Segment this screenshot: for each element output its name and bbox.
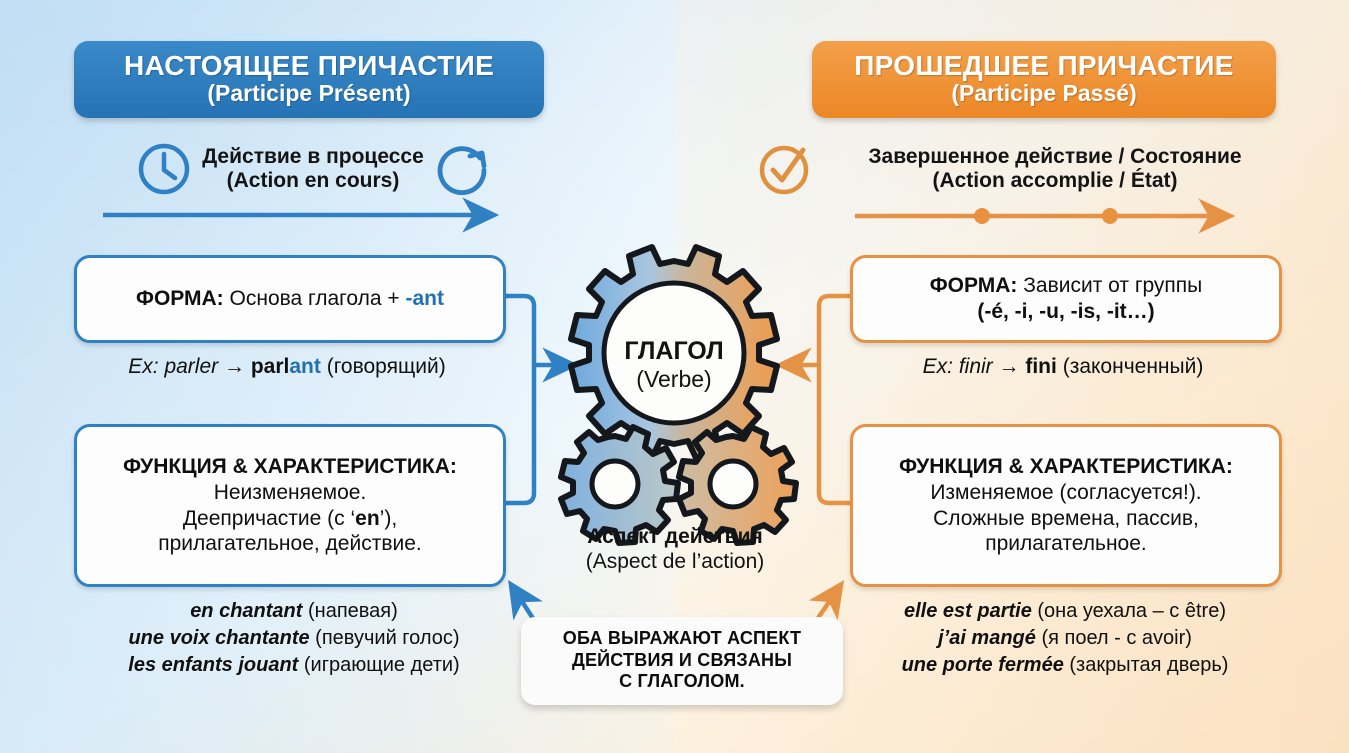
left-function-card: ФУНКЦИЯ & ХАРАКТЕРИСТИКА: Неизменяемое. … <box>74 424 506 587</box>
list-item: les enfants jouant (играющие дети) <box>74 652 514 679</box>
right-examples-list: elle est partie (она уехала – с être) j’… <box>840 598 1290 678</box>
left-subtitle-fr: (Action en cours) <box>202 169 424 193</box>
gear-label-ru: ГЛАГОЛ <box>604 337 744 366</box>
right-form-label: ФОРМА: <box>930 274 1018 297</box>
left-subtitle-ru: Действие в процессе <box>202 145 424 169</box>
right-header-title-ru: ПРОШЕДШЕЕ ПРИЧАСТИЕ <box>812 50 1276 81</box>
right-form-line1: ФОРМА: Зависит от группы <box>930 273 1203 299</box>
left-function-line2-a: Деепричастие (с ‘ <box>183 507 355 530</box>
right-connector-bracket <box>782 296 850 503</box>
right-example-verb: finir <box>959 355 993 378</box>
right-function-card: ФУНКЦИЯ & ХАРАКТЕРИСТИКА: Изменяемое (со… <box>850 424 1282 587</box>
left-function-line1: Неизменяемое. <box>123 480 457 506</box>
left-form-text: Основа глагола + <box>224 287 406 310</box>
right-example-arrow: → <box>999 355 1020 378</box>
right-subtitle-fr: (Action accomplie / État) <box>824 169 1286 193</box>
left-form-label: ФОРМА: <box>136 287 224 310</box>
gear-caption-fr: (Aspect de l’action) <box>528 549 822 574</box>
left-form-accent: -ant <box>405 287 444 310</box>
left-function-title: ФУНКЦИЯ & ХАРАКТЕРИСТИКА: <box>123 454 457 480</box>
right-form-card: ФОРМА: Зависит от группы (-é, -i, -u, -i… <box>850 255 1282 343</box>
right-function-title: ФУНКЦИЯ & ХАРАКТЕРИСТИКА: <box>899 454 1233 480</box>
left-example-result-ending: ant <box>289 355 321 378</box>
left-header-title-ru: НАСТОЯЩЕЕ ПРИЧАСТИЕ <box>74 50 544 81</box>
clock-icon <box>136 141 192 197</box>
right-subtitle-row: Завершенное действие / Состояние (Action… <box>756 140 1286 198</box>
check-circle-icon <box>756 140 814 198</box>
gear-caption: Аспект действия (Aspect de l’action) <box>528 524 822 574</box>
left-function-line3: прилагательное, действие. <box>123 531 457 557</box>
right-function-line3: прилагательное. <box>899 531 1233 557</box>
list-item: en chantant (напевая) <box>74 598 514 625</box>
left-example-result: parlant <box>251 355 321 378</box>
right-subtitle-text: Завершенное действие / Состояние (Action… <box>824 145 1286 193</box>
left-form-card: ФОРМА: Основа глагола + -ant <box>74 255 506 343</box>
left-function-line2-accent: en <box>355 507 380 530</box>
left-example-verb: parler <box>164 355 218 378</box>
left-example-prefix: Ex: <box>128 355 164 378</box>
left-function-line2-c: ’), <box>380 507 398 530</box>
left-ex3-ru: (играющие дети) <box>298 654 459 676</box>
left-ex2-ru: (певучий голос) <box>310 627 460 649</box>
infographic-canvas: НАСТОЯЩЕЕ ПРИЧАСТИЕ (Participe Présent) … <box>0 0 1349 753</box>
left-subtitle-text: Действие в процессе (Action en cours) <box>202 145 424 193</box>
right-example-prefix: Ex: <box>923 355 959 378</box>
right-subtitle-ru: Завершенное действие / Состояние <box>824 145 1286 169</box>
left-ex1-fr: en chantant <box>190 600 302 622</box>
note-line-3: С ГЛАГОЛОМ. <box>529 671 835 693</box>
list-item: une voix chantante (певучий голос) <box>74 625 514 652</box>
right-function-line1: Изменяемое (согласуется!). <box>899 480 1233 506</box>
right-ex2-ru: (я поел - с avoir) <box>1036 627 1192 649</box>
refresh-circular-arrow-icon <box>434 140 492 198</box>
right-ex1-ru: (она уехала – с être) <box>1032 600 1226 622</box>
left-ex3-fr: les enfants jouant <box>128 654 298 676</box>
right-ex2-fr: j’ai mangé <box>938 627 1036 649</box>
list-item: une porte fermée (закрытая дверь) <box>840 652 1290 679</box>
gear-caption-ru: Аспект действия <box>528 524 822 549</box>
center-summary-note: ОБА ВЫРАЖАЮТ АСПЕКТ ДЕЙСТВИЯ И СВЯЗАНЫ С… <box>521 617 843 705</box>
right-header-banner: ПРОШЕДШЕЕ ПРИЧАСТИЕ (Participe Passé) <box>812 41 1276 118</box>
note-line-1: ОБА ВЫРАЖАЮТ АСПЕКТ <box>529 628 835 650</box>
right-ex1-fr: elle est partie <box>904 600 1032 622</box>
list-item: elle est partie (она уехала – с être) <box>840 598 1290 625</box>
left-function-line2: Деепричастие (с ‘en’), <box>123 506 457 532</box>
right-example-translation: (законченный) <box>1063 355 1204 378</box>
note-line-2: ДЕЙСТВИЯ И СВЯЗАНЫ <box>529 650 835 672</box>
right-ex3-fr: une porte fermée <box>902 654 1064 676</box>
left-example-translation: (говорящий) <box>327 355 446 378</box>
left-ex1-ru: (напевая) <box>302 600 397 622</box>
list-item: j’ai mangé (я поел - с avoir) <box>840 625 1290 652</box>
gear-label: ГЛАГОЛ (Verbe) <box>604 337 744 392</box>
left-examples-list: en chantant (напевая) une voix chantante… <box>74 598 514 678</box>
left-connector-bracket <box>503 296 572 503</box>
left-example-result-stem: parl <box>251 355 290 378</box>
right-example-result: fini <box>1025 355 1057 378</box>
left-example-line: Ex: parler → parlant (говорящий) <box>74 355 500 379</box>
left-header-title-fr: (Participe Présent) <box>74 81 544 107</box>
left-header-banner: НАСТОЯЩЕЕ ПРИЧАСТИЕ (Participe Présent) <box>74 41 544 118</box>
right-timeline-arrow <box>855 208 1228 224</box>
left-ex2-fr: une voix chantante <box>128 627 309 649</box>
left-form-line: ФОРМА: Основа глагола + -ant <box>136 286 444 312</box>
right-form-line2: (-é, -i, -u, -is, -it…) <box>930 299 1203 325</box>
right-ex3-ru: (закрытая дверь) <box>1064 654 1229 676</box>
right-header-title-fr: (Participe Passé) <box>812 81 1276 107</box>
left-example-arrow: → <box>224 355 245 378</box>
left-subtitle-row: Действие в процессе (Action en cours) <box>104 140 524 198</box>
right-form-text: Зависит от группы <box>1017 274 1202 297</box>
right-example-line: Ex: finir → fini (законченный) <box>850 355 1276 379</box>
right-function-line2: Сложные времена, пассив, <box>899 506 1233 532</box>
gear-label-fr: (Verbe) <box>604 366 744 392</box>
